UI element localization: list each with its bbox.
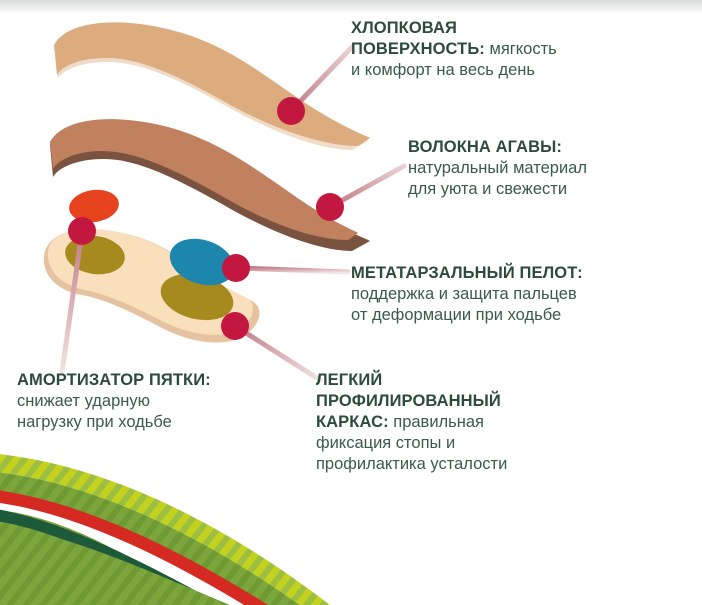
callout-frame-line2: ПРОФИЛИРОВАННЫЙ <box>316 391 616 412</box>
marker-dot-metatarsal <box>222 254 250 282</box>
callout-metatarsal-pad: МЕТАТАРЗАЛЬНЫЙ ПЕЛОТ: поддержка и защита… <box>351 263 691 326</box>
callout-light-frame: ЛЕГКИЙ ПРОФИЛИРОВАННЫЙ КАРКАС: правильна… <box>316 370 616 475</box>
callout-cotton-surface: ХЛОПКОВАЯ ПОВЕРХНОСТЬ: мягкость и комфор… <box>351 18 681 81</box>
decorative-swoosh <box>0 452 330 605</box>
callout-heel-line2: нагрузку при ходьбе <box>17 412 302 433</box>
callout-heel-absorber: АМОРТИЗАТОР ПЯТКИ: снижает ударную нагру… <box>17 370 302 433</box>
callout-heel-line1: снижает ударную <box>17 391 302 412</box>
callout-agave-fiber: ВОЛОКНА АГАВЫ: натуральный материал для … <box>408 137 698 200</box>
callout-agave-line2: для уюта и свежести <box>408 179 698 200</box>
callout-cotton-line1: ХЛОПКОВАЯ <box>351 18 681 39</box>
callout-frame-line4: фиксация стопы и <box>316 433 616 454</box>
callout-frame-line1: ЛЕГКИЙ <box>316 370 616 391</box>
marker-dot-cotton <box>277 97 305 125</box>
callout-agave-line1: натуральный материал <box>408 158 698 179</box>
callout-metatarsal-line1: поддержка и защита пальцев <box>351 284 691 305</box>
callout-metatarsal-line2: от деформации при ходьбе <box>351 305 691 326</box>
callout-agave-title: ВОЛОКНА АГАВЫ: <box>408 137 698 158</box>
callout-frame-line3: КАРКАС: правильная <box>316 412 616 433</box>
callout-cotton-line3: и комфорт на весь день <box>351 60 681 81</box>
callout-metatarsal-title: МЕТАТАРЗАЛЬНЫЙ ПЕЛОТ: <box>351 263 691 284</box>
callout-heel-title: АМОРТИЗАТОР ПЯТКИ: <box>17 370 302 391</box>
infographic-canvas: ХЛОПКОВАЯ ПОВЕРХНОСТЬ: мягкость и комфор… <box>0 0 702 605</box>
marker-dot-agave <box>316 193 344 221</box>
marker-dot-heel <box>68 217 96 245</box>
marker-dot-frame <box>221 312 249 340</box>
callout-cotton-line2: ПОВЕРХНОСТЬ: мягкость <box>351 39 681 60</box>
callout-frame-line5: профилактика усталости <box>316 454 616 475</box>
